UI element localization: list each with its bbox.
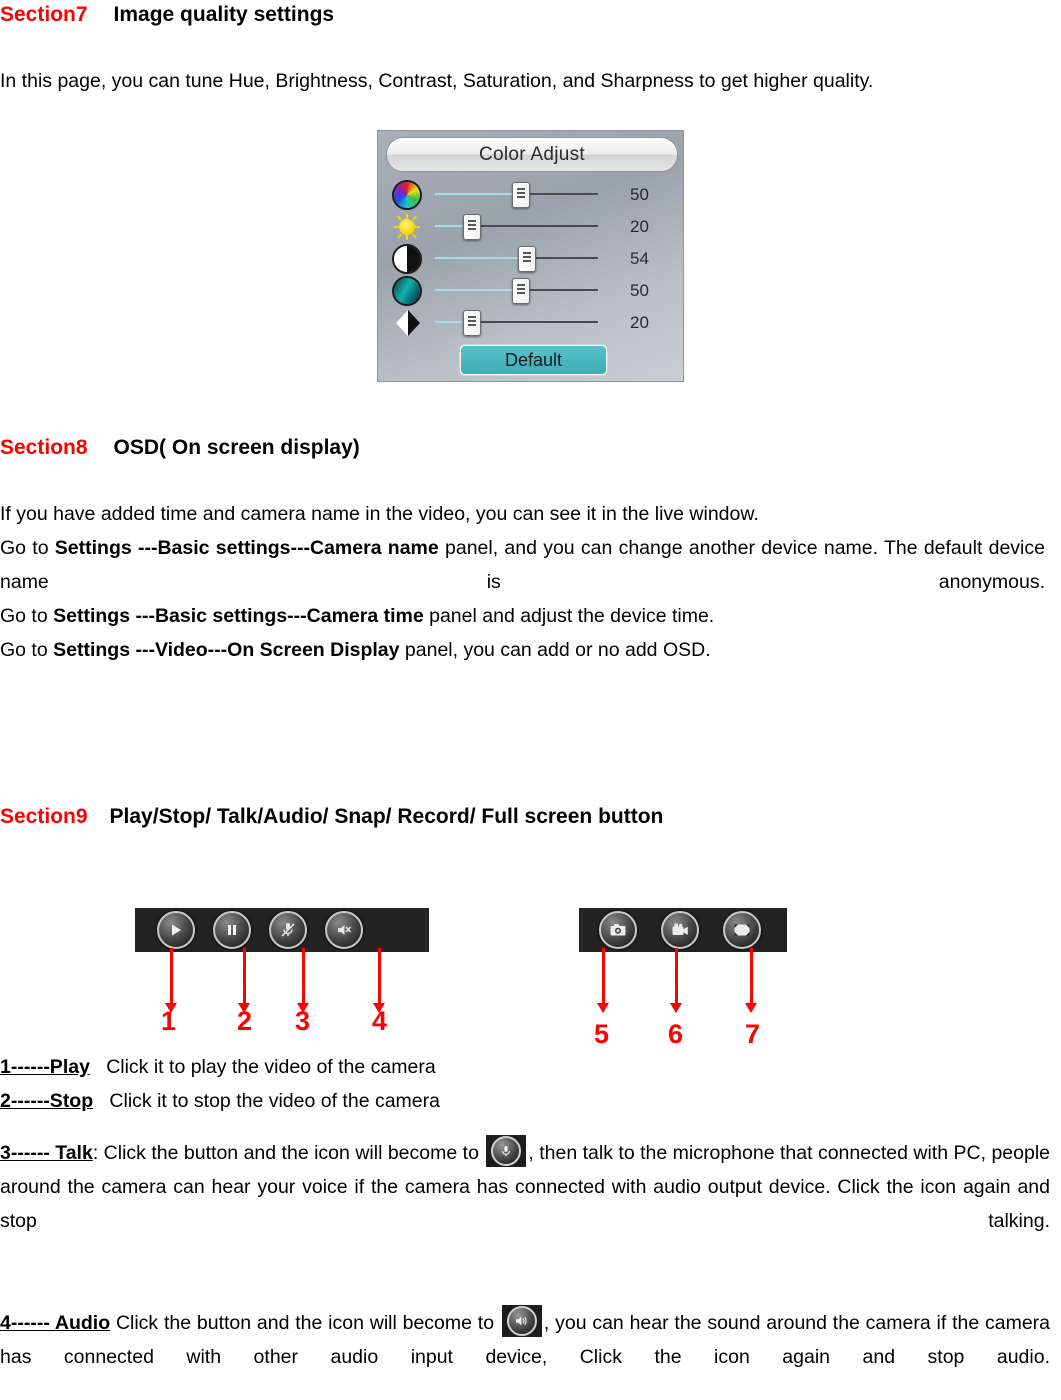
sharpness-slider-knob[interactable] <box>463 310 481 336</box>
speaker-on-icon <box>502 1305 542 1337</box>
callout-number-5: 5 <box>594 1021 609 1048</box>
contrast-icon <box>394 246 420 272</box>
callout-arrow-6 <box>675 948 678 1004</box>
document-page: Section7Image quality settings In this p… <box>0 0 1061 1400</box>
color-adjust-slider-list: 50 <box>378 179 685 339</box>
osd-line-4: Go to Settings ---Video---On Screen Disp… <box>0 633 1045 667</box>
legend-item-2: 2------Stop Click it to stop the video o… <box>0 1084 700 1118</box>
mic-on-icon <box>486 1135 526 1167</box>
player-toolbar-primary <box>135 908 429 952</box>
callout-number-7: 7 <box>745 1021 760 1048</box>
sharpness-icon <box>396 310 422 336</box>
hue-icon <box>394 182 420 208</box>
speaker-muted-icon <box>335 921 353 939</box>
osd-line-3-post: panel and adjust the device time. <box>424 605 715 627</box>
player-toolbar-secondary <box>579 908 787 952</box>
callout-number-2: 2 <box>237 1008 252 1035</box>
legend-item-1: 1------Play Click it to play the video o… <box>0 1050 700 1084</box>
record-icon <box>671 922 689 938</box>
saturation-value: 50 <box>630 281 676 301</box>
osd-line-2-bold: Settings ---Basic settings---Camera name <box>55 537 439 559</box>
sharpness-value: 20 <box>630 313 676 333</box>
mic-muted-icon <box>279 921 297 939</box>
callout-number-1: 1 <box>161 1008 176 1035</box>
section7-number: Section7 <box>0 3 88 26</box>
callout-number-4: 4 <box>372 1008 387 1035</box>
osd-line-3-bold: Settings ---Basic settings---Camera time <box>53 605 424 627</box>
stop-button[interactable] <box>213 911 251 949</box>
slider-row-sharpness: 20 <box>378 307 685 339</box>
intro-paragraph: In this page, you can tune Hue, Brightne… <box>0 64 1045 98</box>
section9-title: Play/Stop/ Talk/Audio/ Snap/ Record/ Ful… <box>110 805 664 828</box>
section9-number: Section9 <box>0 805 88 828</box>
callout-arrow-1 <box>170 948 173 1004</box>
section9-heading: Section9Play/Stop/ Talk/Audio/ Snap/ Rec… <box>0 806 663 827</box>
osd-line-2-pre: Go to <box>0 537 55 559</box>
color-adjust-panel: Color Adjust 50 <box>377 130 684 382</box>
legend-item-4: 4------ Audio Click the button and the i… <box>0 1305 1050 1374</box>
section8-number: Section8 <box>0 436 88 459</box>
contrast-slider-knob[interactable] <box>518 246 536 272</box>
osd-line-2: Go to Settings ---Basic settings---Camer… <box>0 531 1045 599</box>
legend-text-1: Click it to play the video of the camera <box>106 1056 436 1078</box>
audio-button[interactable] <box>325 911 363 949</box>
legend-item-3: 3------ Talk: Click the button and the i… <box>0 1135 1050 1238</box>
section8-heading: Section8OSD( On screen display) <box>0 437 360 458</box>
section7-title: Image quality settings <box>114 3 335 26</box>
hue-slider-track[interactable] <box>435 193 598 196</box>
legend-text-2: Click it to stop the video of the camera <box>109 1090 440 1112</box>
hue-slider-knob[interactable] <box>512 182 530 208</box>
legend-text-4-pre: Click the button and the icon will becom… <box>116 1312 494 1334</box>
play-button[interactable] <box>157 911 195 949</box>
callout-arrow-4 <box>378 948 381 1004</box>
saturation-slider-track[interactable] <box>435 289 598 292</box>
legend-key-1: 1------Play <box>0 1056 90 1078</box>
contrast-slider-track[interactable] <box>435 257 598 260</box>
saturation-icon <box>394 278 420 304</box>
osd-line-4-bold: Settings ---Video---On Screen Display <box>53 639 399 661</box>
contrast-value: 54 <box>630 249 676 269</box>
callout-arrow-5 <box>602 948 605 1004</box>
osd-line-3: Go to Settings ---Basic settings---Camer… <box>0 599 1045 633</box>
callout-number-3: 3 <box>295 1008 310 1035</box>
slider-row-brightness: 20 <box>378 211 685 243</box>
fullscreen-button[interactable] <box>723 911 761 949</box>
default-button[interactable]: Default <box>460 345 607 375</box>
legend-key-2: 2------Stop <box>0 1090 93 1112</box>
osd-line-4-post: panel, you can add or no add OSD. <box>400 639 711 661</box>
section7-heading: Section7Image quality settings <box>0 4 334 25</box>
brightness-icon <box>394 214 420 240</box>
callout-number-6: 6 <box>668 1021 683 1048</box>
osd-line-4-pre: Go to <box>0 639 53 661</box>
callout-arrow-2 <box>243 948 246 1004</box>
callout-arrow-3 <box>302 948 305 1004</box>
snapshot-icon <box>609 922 627 938</box>
fullscreen-icon <box>733 922 751 938</box>
talk-button[interactable] <box>269 911 307 949</box>
hue-value: 50 <box>630 185 676 205</box>
brightness-slider-track[interactable] <box>435 225 598 228</box>
play-icon <box>169 923 183 937</box>
slider-row-contrast: 54 <box>378 243 685 275</box>
color-adjust-title: Color Adjust <box>386 137 678 172</box>
legend-text-3-pre: : Click the button and the icon will bec… <box>93 1142 479 1164</box>
snap-button[interactable] <box>599 911 637 949</box>
legend-key-4: 4------ Audio <box>0 1312 110 1334</box>
slider-row-hue: 50 <box>378 179 685 211</box>
sharpness-slider-track[interactable] <box>435 321 598 324</box>
osd-line-1: If you have added time and camera name i… <box>0 497 1045 531</box>
legend-key-3: 3------ Talk <box>0 1142 93 1164</box>
osd-line-3-pre: Go to <box>0 605 53 627</box>
brightness-value: 20 <box>630 217 676 237</box>
record-button[interactable] <box>661 911 699 949</box>
saturation-slider-knob[interactable] <box>512 278 530 304</box>
section8-title: OSD( On screen display) <box>114 436 360 459</box>
pause-icon <box>225 923 239 937</box>
callout-arrow-7 <box>750 948 753 1004</box>
brightness-slider-knob[interactable] <box>463 214 481 240</box>
slider-row-saturation: 50 <box>378 275 685 307</box>
